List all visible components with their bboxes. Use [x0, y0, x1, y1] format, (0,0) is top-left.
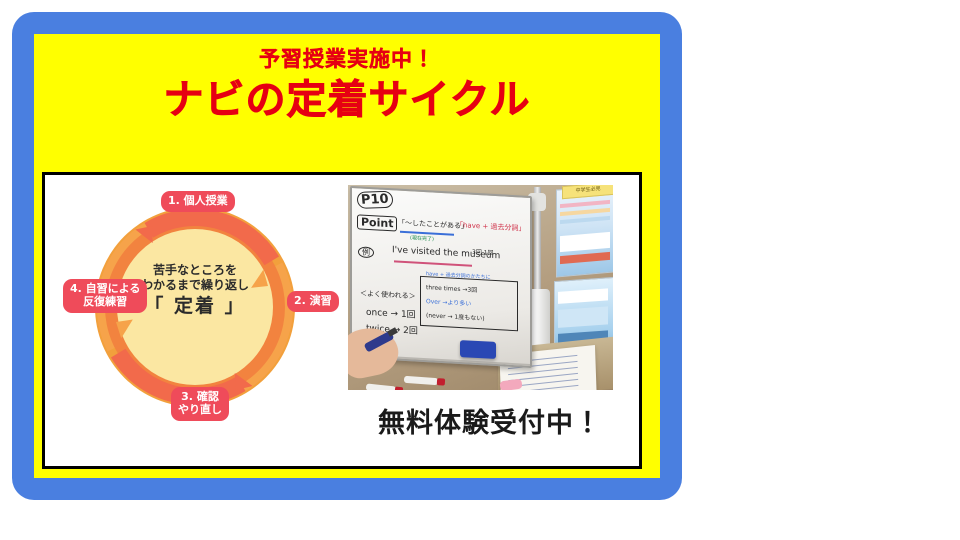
whiteboard-usage-header: ＜よく使われる＞	[360, 288, 416, 301]
whiteboard-example-label: 例	[358, 246, 374, 258]
whiteboard-point-note: (現在完了)	[410, 234, 434, 242]
whiteboard-page-label: P10	[356, 192, 393, 208]
cycle-step-3[interactable]: 3. 確認 やり直し	[171, 387, 229, 421]
slide-root: 予習授業実施中！ ナビの定着サイクル 苦手なところを わ	[0, 0, 960, 540]
cycle-center-line-1: 苦手なところを	[125, 263, 265, 278]
cycle-step-1[interactable]: 1. 個人授業	[161, 191, 235, 212]
photo-eraser	[460, 340, 496, 359]
whiteboard-point-text-red: 「have + 過去分詞」	[456, 220, 526, 234]
whiteboard-usage-line-1: once → 1回	[366, 305, 416, 321]
classroom-photo: 中学生必見	[348, 185, 613, 390]
content-panel: 苦手なところを わかるまで繰り返し 「 定着 」 1. 個人授業 2. 演習 3…	[42, 172, 642, 469]
cycle-step-4[interactable]: 4. 自習による 反復練習	[63, 279, 147, 313]
photo-pink-item	[499, 379, 522, 390]
cycle-step-4-line-2: 反復練習	[70, 296, 140, 309]
free-trial-caption: 無料体験受付中！	[345, 401, 635, 440]
retention-cycle-diagram: 苦手なところを わかるまで繰り返し 「 定着 」 1. 個人授業 2. 演習 3…	[51, 183, 341, 463]
cycle-stage: 苦手なところを わかるまで繰り返し 「 定着 」 1. 個人授業 2. 演習 3…	[79, 191, 311, 423]
whiteboard-pink-underline	[394, 260, 472, 266]
cycle-step-2[interactable]: 2. 演習	[287, 291, 339, 312]
whiteboard-point-label: Point	[357, 215, 397, 230]
cycle-step-3-line-2: やり直し	[178, 404, 222, 417]
whiteboard-example-note: 3回 1回	[472, 247, 494, 257]
